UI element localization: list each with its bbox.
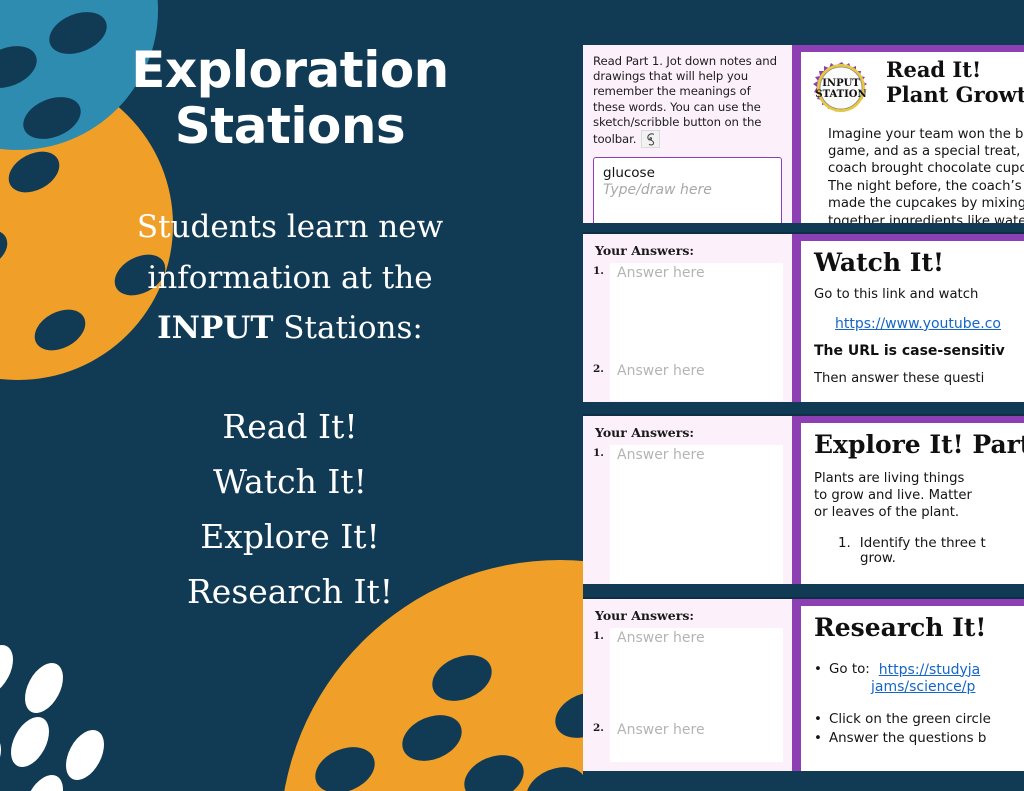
answer-number: 1. [593, 447, 604, 459]
read-it-instruction-text: Read Part 1. Jot down notes and drawings… [593, 54, 777, 146]
input-station-badge: INPUT STATION [810, 60, 874, 124]
read-it-content-pane: INPUT STATION Read It! Plant Growth – Im… [792, 45, 1024, 223]
research-it-link-line-2[interactable]: jams/science/p [871, 679, 975, 695]
title-line-1: Exploration [70, 42, 510, 98]
badge-line-1: INPUT [822, 78, 860, 89]
title-line-2: Stations [70, 98, 510, 154]
answer-placeholder: Answer here [610, 263, 705, 281]
research-it-answer-list: 1. Answer here 2. Answer here [592, 628, 783, 762]
badge-line-2: STATION [815, 89, 866, 100]
answer-placeholder: Answer here [610, 628, 705, 646]
word-box-placeholder: Type/draw here [603, 182, 772, 198]
explore-it-body-line-1: Plants are living things [814, 470, 1024, 487]
read-it-heading-line-1: Read It! [886, 58, 1024, 83]
answer-row[interactable]: 1. Answer here [610, 445, 783, 584]
watch-it-video-link[interactable]: https://www.youtube.co [835, 316, 1001, 332]
research-it-answers-title: Your Answers: [595, 608, 783, 623]
subtitle-line-1: Students learn new [80, 202, 500, 253]
read-it-instructions: Read Part 1. Jot down notes and drawings… [593, 54, 782, 148]
answer-placeholder: Answer here [610, 445, 705, 463]
answer-number: 2. [593, 363, 604, 375]
bullet-dot-icon: • [814, 731, 820, 746]
subtitle-emphasis: INPUT [157, 310, 273, 346]
read-it-body-line-1: Imagine your team won the big [828, 126, 1024, 143]
question-number: 1. [838, 536, 851, 551]
station-item-read: Read It! [60, 399, 520, 454]
watch-it-answer-list: 1. Answer here 2. Answer here [592, 263, 783, 401]
subtitle: Students learn new information at the IN… [80, 202, 500, 354]
read-it-body-line-6: together ingredients like water, fl [828, 213, 1024, 223]
card-stack: Read Part 1. Jot down notes and drawings… [583, 0, 1024, 791]
research-it-bullet-2-label: Click on the green circle [829, 712, 991, 727]
card-research-it[interactable]: Your Answers: 1. Answer here 2. Answer h… [583, 597, 1024, 771]
explore-it-body-line-3: or leaves of the plant. [814, 504, 1024, 521]
research-it-bullet-2: • Click on the green circle [814, 712, 1024, 727]
answer-placeholder: Answer here [610, 361, 705, 379]
station-item-watch: Watch It! [60, 454, 520, 509]
answer-row[interactable]: 1. Answer here [610, 628, 783, 720]
subtitle-line-2: information at the [80, 253, 500, 304]
subtitle-line-3: INPUT Stations: [80, 303, 500, 354]
watch-it-intro: Go to this link and watch [814, 286, 1024, 303]
explore-it-answers-title: Your Answers: [595, 425, 783, 440]
watch-it-content-pane: Watch It! Go to this link and watch http… [792, 234, 1024, 402]
research-it-bullet-3: • Answer the questions b [814, 731, 1024, 746]
watch-it-url-note: The URL is case-sensitiv [814, 343, 1024, 359]
explore-it-question-1-cont: grow. [814, 551, 1024, 566]
scribble-icon[interactable] [641, 130, 660, 148]
watch-it-answers-title: Your Answers: [595, 243, 783, 258]
answer-number: 1. [593, 265, 604, 277]
read-it-body-line-5: made the cupcakes by mixing [828, 195, 1024, 212]
answer-row[interactable]: 2. Answer here [610, 361, 783, 401]
research-it-link-line-1[interactable]: https://studyja [879, 662, 980, 678]
research-it-bullet-3-label: Answer the questions b [829, 731, 986, 746]
watch-it-heading: Watch It! [814, 249, 1024, 277]
read-it-prompt-pane: Read Part 1. Jot down notes and drawings… [583, 45, 792, 223]
research-it-bullet-1-label: Go to: [829, 662, 870, 678]
bullet-dot-icon: • [814, 712, 820, 727]
answer-row[interactable]: 1. Answer here [610, 263, 783, 361]
research-it-heading: Research It! [814, 614, 1024, 642]
subtitle-tail: Stations: [273, 310, 422, 346]
station-item-research: Research It! [60, 564, 520, 619]
read-it-body-line-4: The night before, the coach’s fam [828, 178, 1024, 195]
card-read-it[interactable]: Read Part 1. Jot down notes and drawings… [583, 45, 1024, 223]
answer-number: 1. [593, 630, 604, 642]
explore-it-content-pane: Explore It! Part 1 Plants are living thi… [792, 416, 1024, 584]
research-it-bullet-1: • Go to: https://studyja [814, 662, 1024, 678]
station-list: Read It! Watch It! Explore It! Research … [60, 399, 520, 619]
card-watch-it[interactable]: Your Answers: 1. Answer here 2. Answer h… [583, 232, 1024, 402]
watch-it-followup: Then answer these questi [814, 370, 1024, 387]
answer-number: 2. [593, 722, 604, 734]
explore-it-answers-pane: Your Answers: 1. Answer here [583, 416, 792, 584]
page-title: Exploration Stations [70, 42, 510, 154]
card-explore-it[interactable]: Your Answers: 1. Answer here Explore It!… [583, 414, 1024, 584]
answer-placeholder: Answer here [610, 720, 705, 738]
word-box-term: glucose [603, 165, 772, 181]
research-it-content-pane: Research It! • Go to: https://studyja ja… [792, 599, 1024, 771]
read-it-heading-line-2: Plant Growth – [886, 83, 1024, 108]
bullet-dot-icon: • [814, 662, 820, 678]
explore-it-body-line-2: to grow and live. Matter [814, 487, 1024, 504]
explore-it-question-1: 1. Identify the three t [814, 536, 1024, 551]
left-panel: Exploration Stations Students learn new … [0, 0, 580, 791]
watch-it-answers-pane: Your Answers: 1. Answer here 2. Answer h… [583, 234, 792, 402]
explore-it-heading: Explore It! Part 1 [814, 431, 1024, 459]
station-item-explore: Explore It! [60, 509, 520, 564]
research-it-answers-pane: Your Answers: 1. Answer here 2. Answer h… [583, 599, 792, 771]
read-it-word-box[interactable]: glucose Type/draw here [593, 157, 782, 223]
explore-it-answer-list: 1. Answer here [592, 445, 783, 584]
read-it-body-line-2: game, and as a special treat, the [828, 143, 1024, 160]
answer-row[interactable]: 2. Answer here [610, 720, 783, 762]
question-text: Identify the three t [860, 536, 986, 551]
read-it-body-line-3: coach brought chocolate cupcake [828, 160, 1024, 177]
